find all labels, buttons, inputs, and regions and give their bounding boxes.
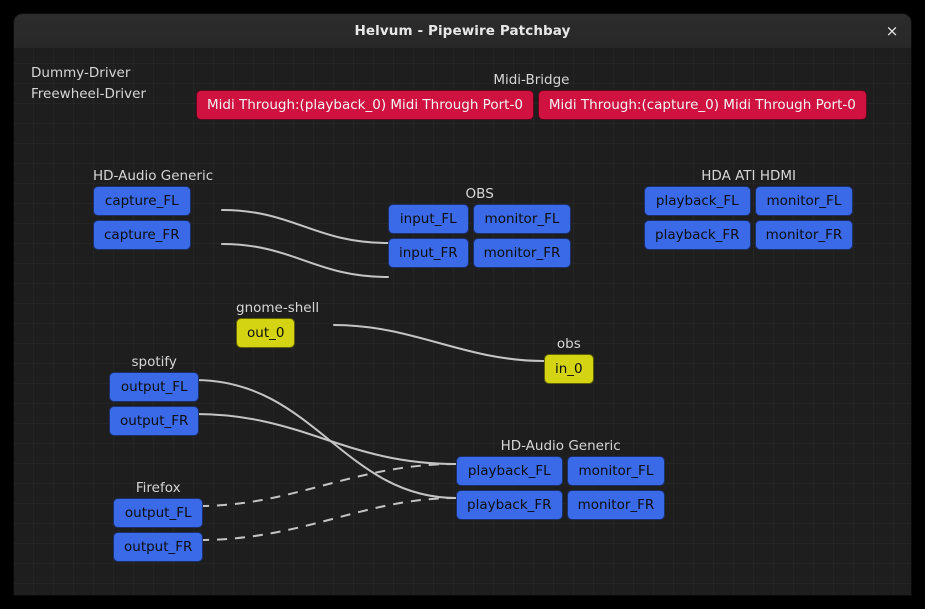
window-titlebar[interactable]: Helvum - Pipewire Patchbay × [14, 14, 911, 49]
port-input-fl[interactable]: input_FL [388, 204, 469, 234]
node-spotify[interactable]: spotify output_FL output_FR [109, 354, 199, 436]
node-title-gnome-shell: gnome-shell [236, 300, 319, 316]
port-column: in_0 [544, 354, 594, 384]
port-monitor-fr[interactable]: monitor_FR [473, 238, 572, 268]
port-out-0[interactable]: out_0 [236, 318, 295, 348]
driver-label-dummy: Dummy-Driver [31, 63, 146, 84]
wire-firefox-fr-to-playback-fr [199, 498, 456, 540]
port-in-0[interactable]: in_0 [544, 354, 594, 384]
port-monitor-fl[interactable]: monitor_FL [473, 204, 572, 234]
desktop-background: Helvum - Pipewire Patchbay × Dummy-Drive… [0, 0, 925, 609]
port-column: out_0 [236, 318, 295, 348]
node-title-midi-bridge: Midi-Bridge [196, 72, 867, 88]
node-hd-audio-generic-capture[interactable]: HD-Audio Generic capture_FL capture_FR [93, 168, 213, 250]
node-title-hda-ati-hdmi: HDA ATI HDMI [644, 168, 853, 184]
node-title-spotify: spotify [109, 354, 199, 370]
port-column: playback_FL playback_FR [644, 186, 751, 250]
node-obs-sink[interactable]: OBS input_FL input_FR monitor_FL monitor… [388, 186, 571, 268]
node-obs-source[interactable]: obs in_0 [544, 336, 594, 384]
port-playback-fr[interactable]: playback_FR [456, 490, 563, 520]
node-firefox[interactable]: Firefox output_FL output_FR [113, 480, 203, 562]
wire-capture-fr-to-input-fr [222, 244, 388, 277]
wire-spotify-fl-to-playback-fr [195, 380, 456, 498]
node-hda-ati-hdmi[interactable]: HDA ATI HDMI playback_FL playback_FR mon… [644, 168, 853, 250]
port-column: monitor_FL monitor_FR [755, 186, 854, 250]
close-icon[interactable]: × [879, 18, 905, 44]
port-output-fr[interactable]: output_FR [113, 532, 203, 562]
port-column: Midi Through:(playback_0) Midi Through P… [196, 90, 534, 120]
wire-capture-fl-to-input-fl [222, 210, 388, 243]
port-playback-fr[interactable]: playback_FR [644, 220, 751, 250]
wire-firefox-fl-to-playback-fl [199, 464, 456, 506]
port-column: monitor_FL monitor_FR [567, 456, 666, 520]
port-capture-fl[interactable]: capture_FL [93, 186, 191, 216]
window-title: Helvum - Pipewire Patchbay [14, 14, 911, 48]
port-column: Midi Through:(capture_0) Midi Through Po… [538, 90, 867, 120]
driver-label-freewheel: Freewheel-Driver [31, 84, 146, 105]
port-input-fr[interactable]: input_FR [388, 238, 469, 268]
node-title-hd-audio-generic-playback: HD-Audio Generic [456, 438, 665, 454]
port-playback-fl[interactable]: playback_FL [644, 186, 751, 216]
port-midi-playback-0[interactable]: Midi Through:(playback_0) Midi Through P… [196, 90, 534, 120]
patchbay-canvas[interactable]: Dummy-Driver Freewheel-Driver [14, 48, 911, 595]
port-column: capture_FL capture_FR [93, 186, 191, 250]
port-monitor-fr[interactable]: monitor_FR [567, 490, 666, 520]
port-midi-capture-0[interactable]: Midi Through:(capture_0) Midi Through Po… [538, 90, 867, 120]
port-column: output_FL output_FR [109, 372, 199, 436]
port-output-fr[interactable]: output_FR [109, 406, 199, 436]
node-title-obs-source: obs [544, 336, 594, 352]
port-output-fl[interactable]: output_FL [113, 498, 203, 528]
port-capture-fr[interactable]: capture_FR [93, 220, 191, 250]
wire-spotify-fr-to-playback-fl [195, 414, 456, 464]
node-title-hd-audio-generic-capture: HD-Audio Generic [93, 168, 213, 184]
helvum-window: Helvum - Pipewire Patchbay × Dummy-Drive… [14, 14, 911, 595]
wire-out0-to-in0 [334, 325, 544, 361]
port-monitor-fr[interactable]: monitor_FR [755, 220, 854, 250]
driver-labels: Dummy-Driver Freewheel-Driver [31, 63, 146, 105]
node-title-firefox: Firefox [113, 480, 203, 496]
node-gnome-shell[interactable]: gnome-shell out_0 [236, 300, 319, 348]
port-column: monitor_FL monitor_FR [473, 204, 572, 268]
node-midi-bridge[interactable]: Midi-Bridge Midi Through:(playback_0) Mi… [196, 72, 867, 120]
port-output-fl[interactable]: output_FL [109, 372, 199, 402]
port-playback-fl[interactable]: playback_FL [456, 456, 563, 486]
node-title-obs: OBS [388, 186, 571, 202]
node-hd-audio-generic-playback[interactable]: HD-Audio Generic playback_FL playback_FR… [456, 438, 665, 520]
port-column: output_FL output_FR [113, 498, 203, 562]
port-column: playback_FL playback_FR [456, 456, 563, 520]
port-column: input_FL input_FR [388, 204, 469, 268]
port-monitor-fl[interactable]: monitor_FL [755, 186, 854, 216]
port-monitor-fl[interactable]: monitor_FL [567, 456, 666, 486]
